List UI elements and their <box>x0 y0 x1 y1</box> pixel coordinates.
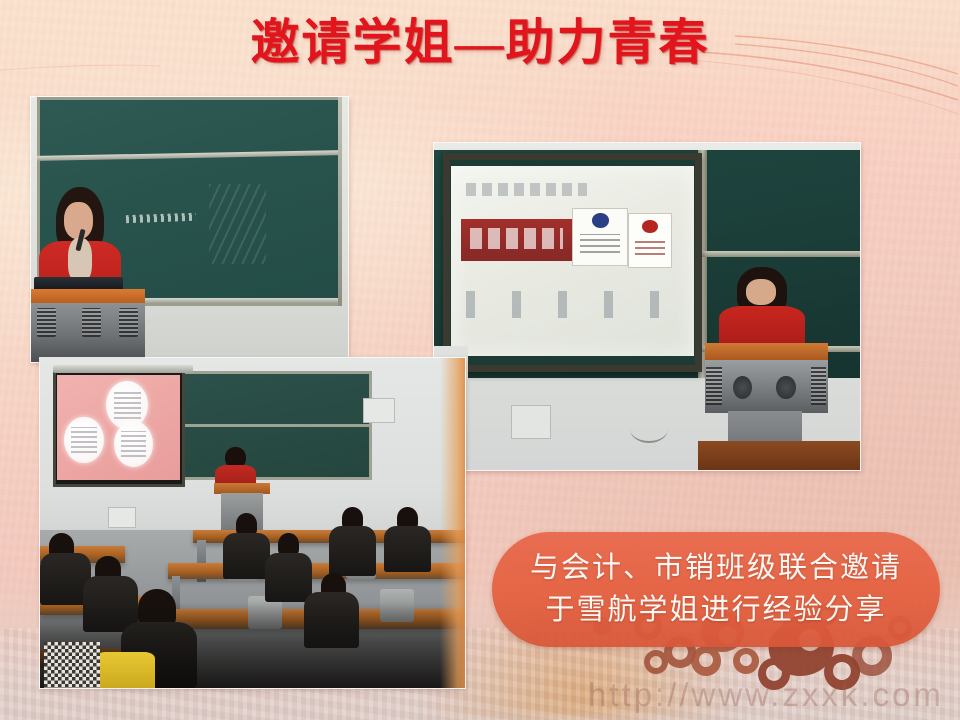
photo-classroom-audience <box>40 358 465 688</box>
presentation-slide: 邀请学姐—助力青春 <box>0 0 960 720</box>
caption-line-2: 于雪航学姐进行经验分享 <box>545 590 886 631</box>
site-watermark: http://www.zxxk.com <box>588 676 944 714</box>
photo-projector-speaker <box>434 143 860 470</box>
caption-line-1: 与会计、市销班级联合邀请 <box>530 548 902 589</box>
photo-lecture-board-content <box>31 97 348 362</box>
caption-box: 与会计、市销班级联合邀请 于雪航学姐进行经验分享 <box>492 532 940 647</box>
photo-lecture-board <box>31 97 348 362</box>
photo-projector-speaker-content <box>434 143 860 470</box>
photo-classroom-audience-content <box>40 358 465 688</box>
slide-title: 邀请学姐—助力青春 <box>0 16 960 70</box>
